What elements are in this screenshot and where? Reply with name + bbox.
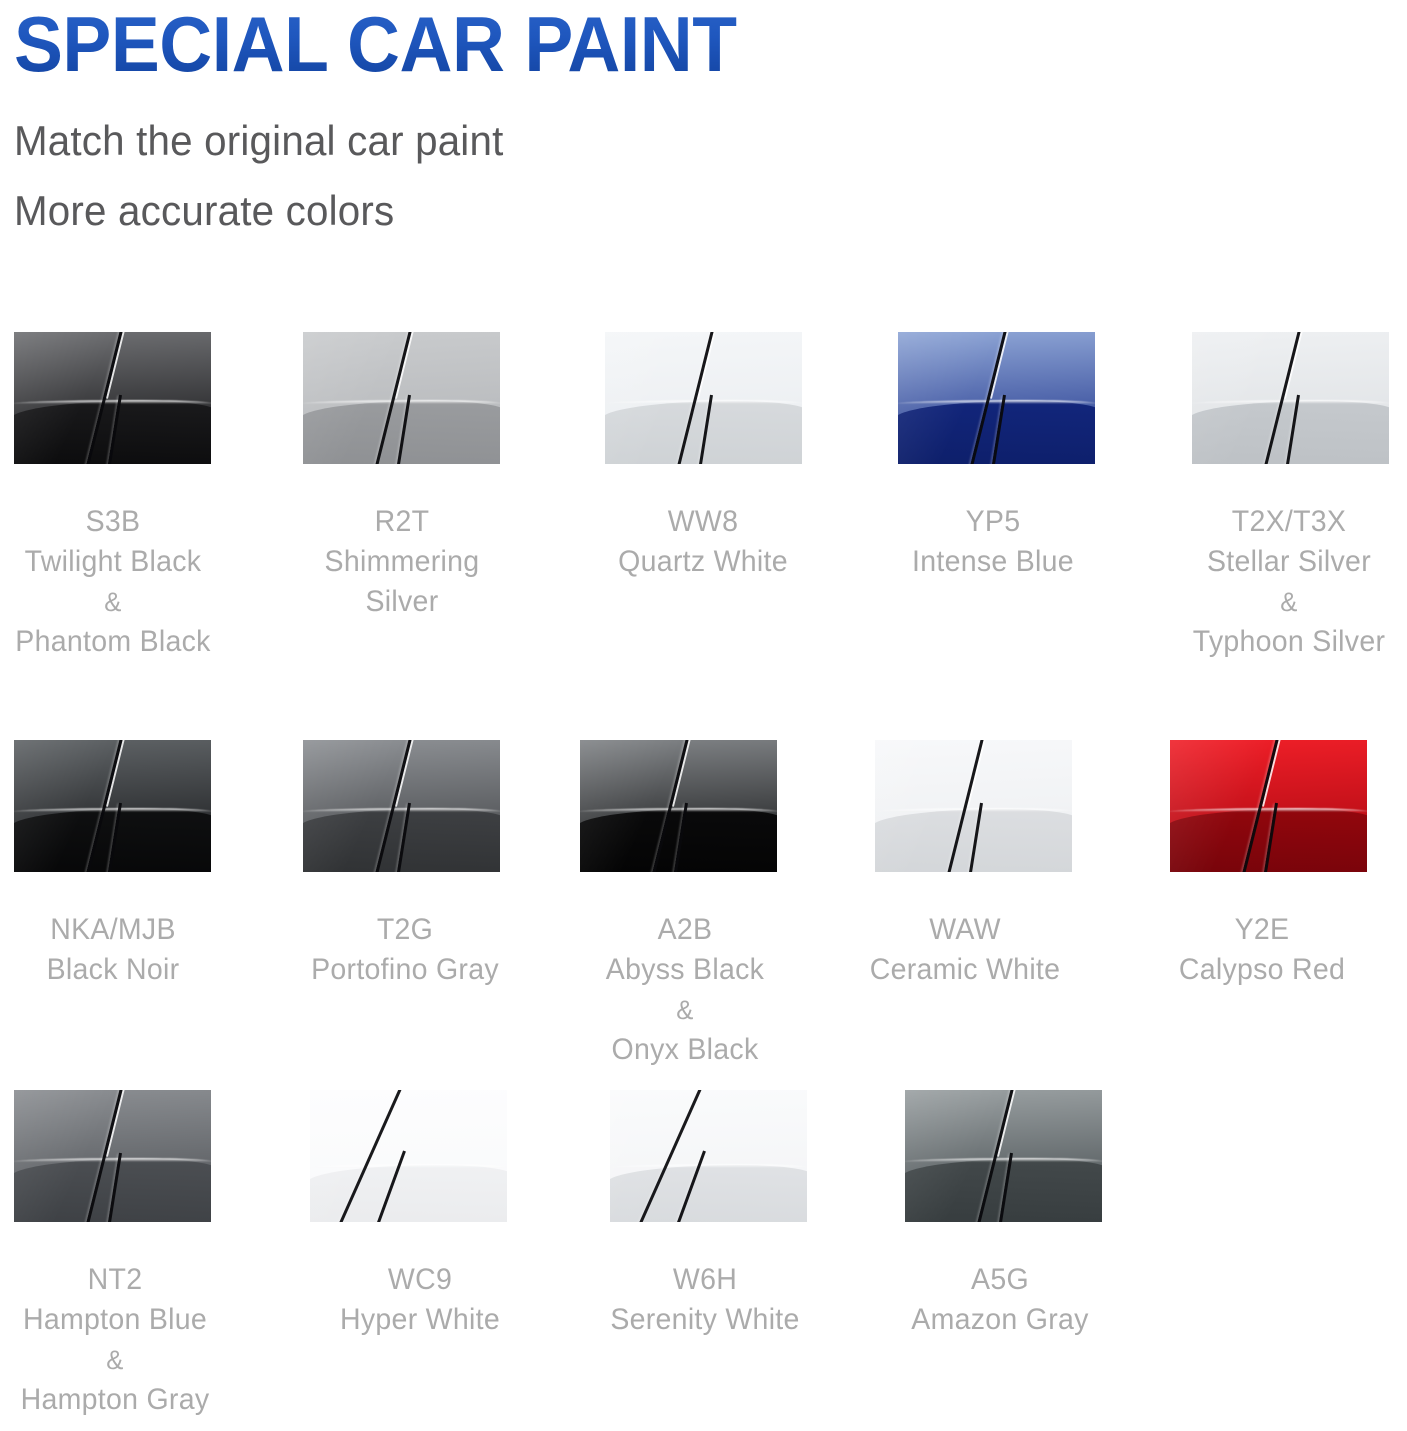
body-crease-highlight xyxy=(610,1164,807,1168)
page-header: SPECIAL CAR PAINT Match the original car… xyxy=(14,0,1394,246)
paint-name-line: Onyx Black xyxy=(486,1030,885,1070)
paint-swatch-card[interactable]: A5GAmazon Gray xyxy=(905,1090,1210,1340)
paint-name-line: Amazon Gray xyxy=(801,1300,1200,1340)
paint-swatch-card[interactable]: T2X/T3XStellar Silver&Typhoon Silver xyxy=(1192,332,1407,662)
paint-swatch-image xyxy=(1170,740,1367,872)
paint-swatch-image xyxy=(14,740,211,872)
car-panel-lower xyxy=(610,1165,807,1222)
paint-name-separator: & xyxy=(0,1340,315,1380)
paint-name-line: Hampton Gray xyxy=(0,1380,315,1420)
paint-code: T2X/T3X xyxy=(1090,502,1407,542)
paint-swatch-image xyxy=(875,740,1072,872)
page-title: SPECIAL CAR PAINT xyxy=(14,0,1311,88)
paint-code: A5G xyxy=(801,1260,1200,1300)
paint-swatch-image xyxy=(905,1090,1102,1222)
paint-caption: A5GAmazon Gray xyxy=(801,1260,1200,1340)
paint-caption: T2X/T3XStellar Silver&Typhoon Silver xyxy=(1090,502,1407,662)
paint-swatch-image xyxy=(610,1090,807,1222)
subtitle-line-2: More accurate colors xyxy=(14,176,1339,246)
paint-name-line: Calypso Red xyxy=(1063,950,1407,990)
paint-swatch-card[interactable]: NT2Hampton Blue&Hampton Gray xyxy=(14,1090,325,1420)
paint-row: NT2Hampton Blue&Hampton GrayWC9Hyper Whi… xyxy=(0,1090,1407,1431)
paint-swatch-card[interactable]: A2BAbyss Black&Onyx Black xyxy=(580,740,895,1070)
subtitle-line-1: Match the original car paint xyxy=(14,106,1339,176)
paint-swatch-image xyxy=(14,1090,211,1222)
paint-swatch-image xyxy=(605,332,802,464)
paint-swatch-image xyxy=(14,332,211,464)
page-subtitle: Match the original car paint More accura… xyxy=(14,88,1339,246)
paint-swatch-card[interactable]: Y2ECalypso Red xyxy=(1170,740,1407,990)
paint-swatch-image xyxy=(303,332,500,464)
paint-swatch-image xyxy=(898,332,1095,464)
paint-swatch-image xyxy=(310,1090,507,1222)
paint-row: NKA/MJBBlack NoirT2GPortofino GrayA2BAby… xyxy=(0,740,1407,1090)
paint-name-line: Silver xyxy=(203,582,602,622)
car-panel-lower xyxy=(310,1165,507,1222)
body-crease-highlight xyxy=(310,1164,507,1168)
paint-swatch-image xyxy=(303,740,500,872)
paint-swatch-image xyxy=(580,740,777,872)
paint-name-separator: & xyxy=(486,990,885,1030)
paint-name-line: Phantom Black xyxy=(0,622,313,662)
paint-swatch-image xyxy=(1192,332,1389,464)
paint-name-line: Typhoon Silver xyxy=(1090,622,1407,662)
paint-caption: Y2ECalypso Red xyxy=(1063,910,1407,990)
paint-color-grid: S3BTwilight Black&Phantom BlackR2TShimme… xyxy=(0,332,1407,1431)
paint-code: Y2E xyxy=(1063,910,1407,950)
paint-name-line: Stellar Silver xyxy=(1090,542,1407,582)
paint-name-separator: & xyxy=(1090,582,1407,622)
paint-row: S3BTwilight Black&Phantom BlackR2TShimme… xyxy=(0,332,1407,740)
